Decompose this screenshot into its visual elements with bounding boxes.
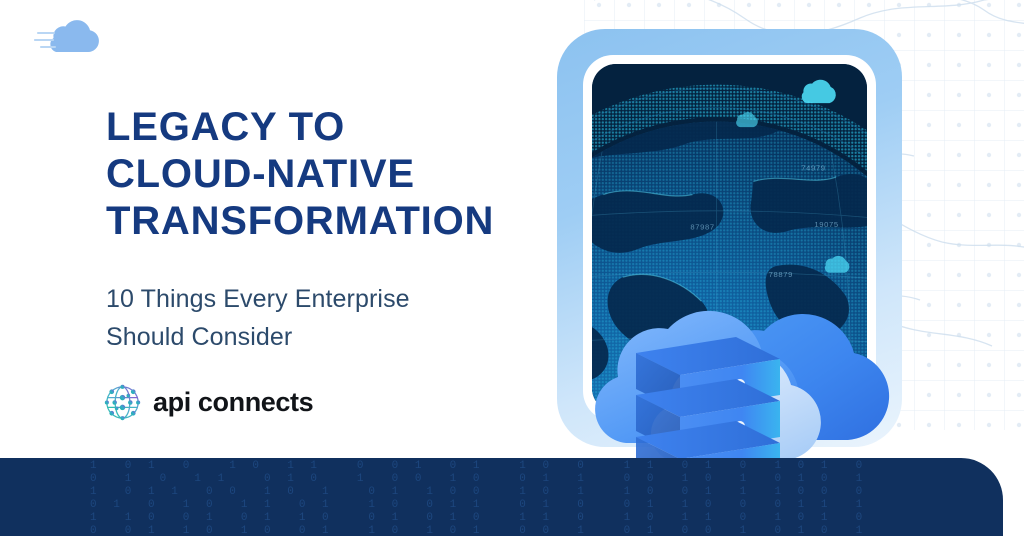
subtitle-line-1: 10 Things Every Enterprise (106, 280, 526, 318)
headline-line-1: LEGACY TO (106, 104, 576, 151)
svg-text:74979: 74979 (801, 164, 825, 173)
subtitle-line-2: Should Consider (106, 318, 526, 356)
footer-band: 1 0 1 0 1 0 1 1 0 0 1 0 1 1 0 0 1 1 0 1 … (0, 458, 1003, 536)
page-title: LEGACY TO CLOUD-NATIVE TRANSFORMATION (106, 104, 576, 246)
brand-logo-text: api connects (153, 389, 313, 416)
brand-logo[interactable]: api connects (101, 381, 313, 424)
globe-network-icon (101, 381, 144, 424)
cloud-speed-icon (34, 14, 112, 60)
headline-line-3: TRANSFORMATION (106, 198, 576, 245)
cloud-server-illustration (548, 225, 918, 495)
headline-line-2: CLOUD-NATIVE (106, 151, 576, 198)
banner-canvas: LEGACY TO CLOUD-NATIVE TRANSFORMATION 10… (0, 0, 1024, 536)
binary-texture: 1 0 1 0 1 0 1 1 0 0 1 0 1 1 0 0 1 1 0 1 … (0, 458, 1003, 536)
page-subtitle: 10 Things Every Enterprise Should Consid… (106, 280, 526, 356)
